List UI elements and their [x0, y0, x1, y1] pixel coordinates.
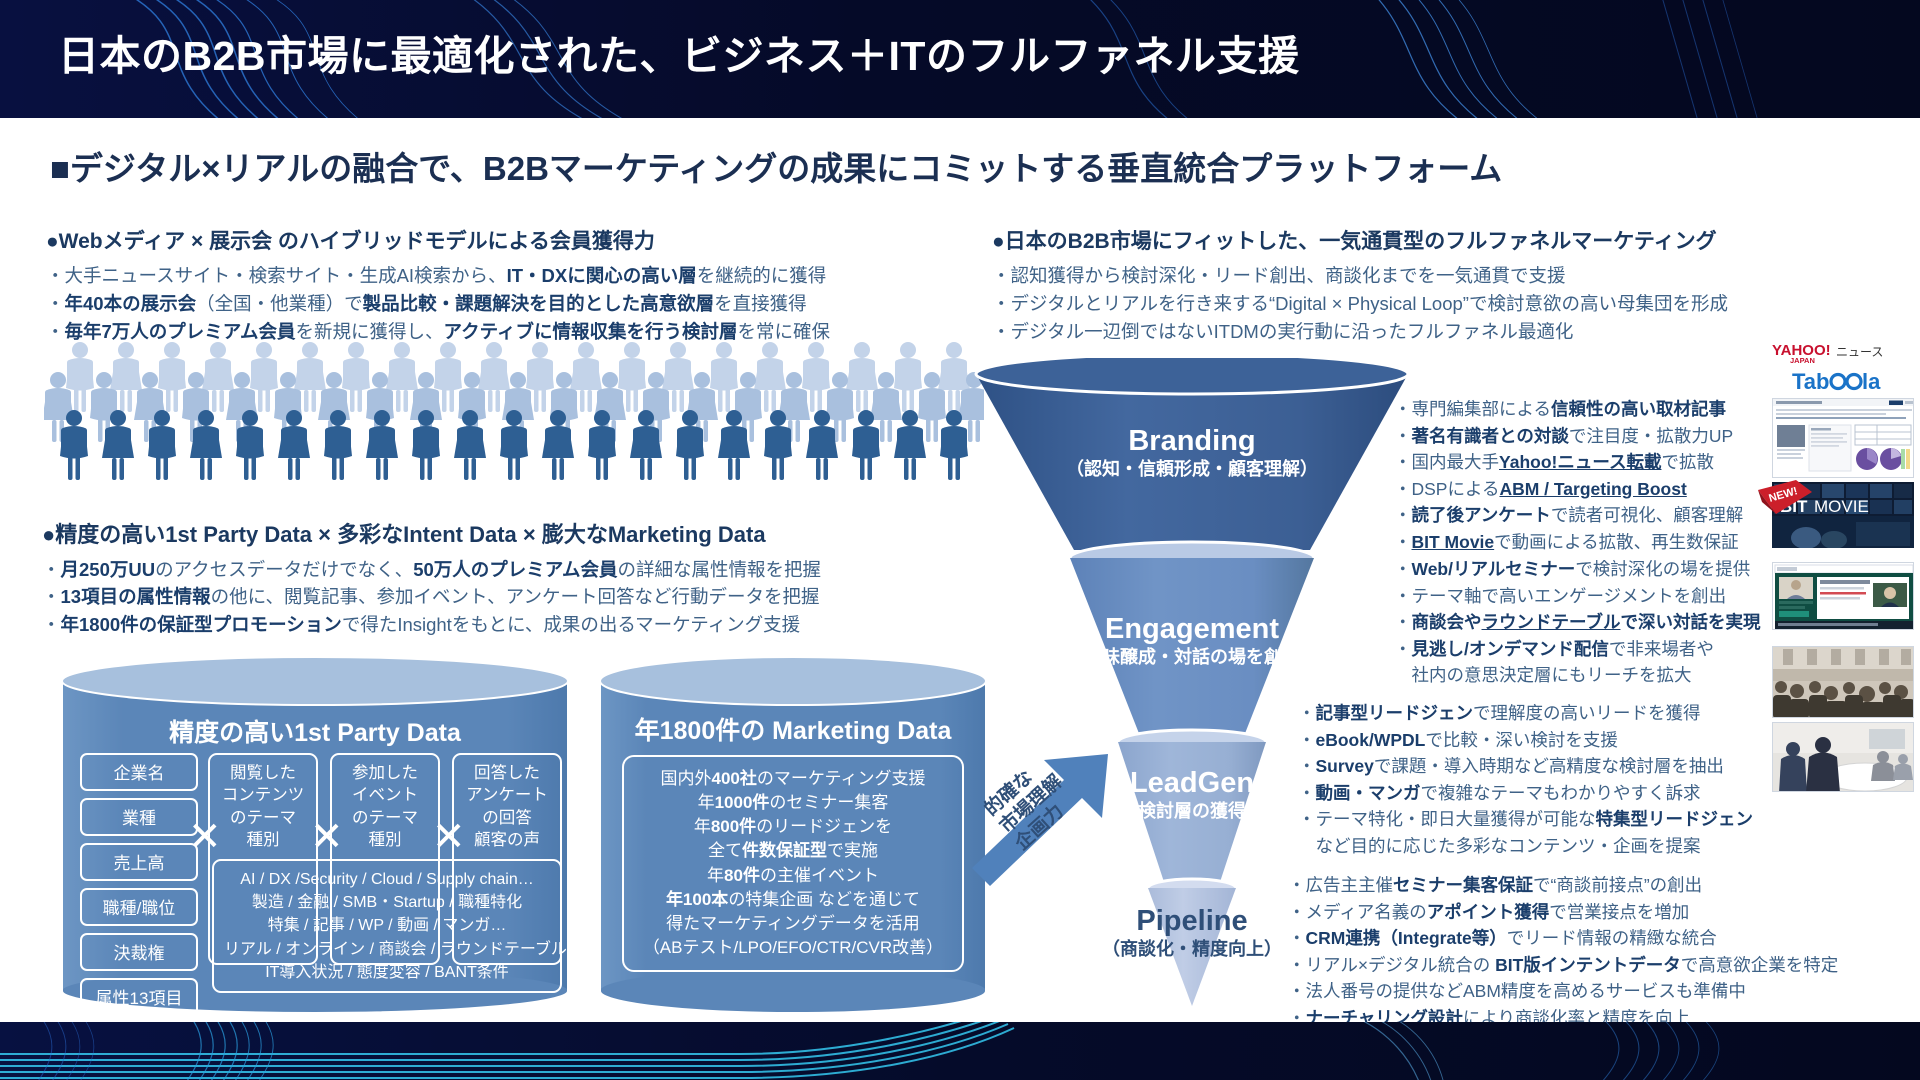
svg-text:la: la — [1862, 369, 1881, 394]
pipeline-benefits-list: ・広告主主催セミナー集客保証で“商談前接点”の創出 ・メディア名義のアポイント獲… — [1288, 872, 1838, 1032]
benefit-line: など目的に応じた多彩なコンテンツ・企画を提案 — [1298, 833, 1753, 860]
tag-line: リアル / オンライン / 商談会 / ラウンドテーブル — [224, 938, 550, 961]
benefit-line: ・専門編集部による信頼性の高い取材記事 — [1394, 396, 1743, 423]
footer-wave-decoration — [0, 1022, 1920, 1080]
cylinder1-tag-list: AI / DX /Security / Cloud / Supply chain… — [212, 859, 562, 993]
webinar-thumbnail-image — [1773, 563, 1914, 630]
leadgen-benefits-list: ・記事型リードジェンで理解度の高いリードを獲得 ・eBook/WPDLで比較・深… — [1298, 700, 1753, 860]
branding-benefits-list: ・専門編集部による信頼性の高い取材記事 ・著名有識者との対談で注目度・拡散力UP… — [1394, 396, 1743, 556]
expo-crowd-thumbnail-image — [1773, 647, 1914, 718]
benefit-line: ・Surveyで課題・導入時期など高精度な検討層を抽出 — [1298, 753, 1753, 780]
slide-root: 日本のB2B市場に最適化された、ビジネス＋ITのフルファネル支援 ■デジタル×リ… — [0, 0, 1920, 1080]
body-line: （ABテスト/LPO/EFO/CTR/CVR改善） — [636, 936, 950, 960]
body-line: 全て件数保証型で実施 — [636, 839, 950, 863]
multiply-icon: ✕ — [188, 817, 222, 857]
page-title: 日本のB2B市場に最適化された、ビジネス＋ITのフルファネル支援 — [58, 22, 1299, 82]
left-top-line: ・大手ニュースサイト・検索サイト・生成AI検索から、IT・DXに関心の高い層を継… — [46, 262, 830, 290]
cylinder-marketing-data: 年1800件の Marketing Data 国内外400社のマーケティング支援… — [598, 655, 988, 1015]
text-line: コンテンツ — [218, 784, 308, 806]
benefit-line: ・読了後アンケートで読者可視化、顧客理解 — [1394, 502, 1743, 529]
left-top-block: ●Webメディア × 展示会 のハイブリッドモデルによる会員獲得力 ・大手ニュー… — [46, 228, 830, 346]
body-line: 国内外400社のマーケティング支援 — [636, 767, 950, 791]
benefit-line: ・CRM連携（Integrate等）でリード情報の精緻な統合 — [1288, 925, 1838, 952]
thumbnail-roundtable — [1772, 722, 1914, 792]
text-line: のテーマ — [218, 807, 308, 829]
right-top-line: ・認知獲得から検討深化・リード創出、商談化までを一気通貫で支援 — [992, 262, 1728, 290]
left-top-line: ・年40本の展示会（全国・他業種）で製品比較・課題解決を目的とした高意欲層を直接… — [46, 290, 830, 318]
text-line: アンケート — [462, 784, 552, 806]
yahoo-logo-icon: YAHOO! JAPAN ニュース — [1772, 340, 1912, 364]
roundtable-thumbnail-image — [1773, 723, 1914, 792]
benefit-line: ・DSPによるABM / Targeting Boost — [1394, 476, 1743, 503]
tag-line: 製造 / 金融 / SMB・Startup / 職種特化 — [224, 891, 550, 914]
svg-text:JAPAN: JAPAN — [1790, 356, 1815, 364]
multiply-icon: ✕ — [432, 817, 466, 857]
yahoo-news-logo: YAHOO! JAPAN ニュース — [1772, 340, 1912, 364]
text-line: の回答 — [462, 807, 552, 829]
engagement-benefits-list: ・Web/リアルセミナーで検討深化の場を提供 ・テーマ軸で高いエンゲージメントを… — [1394, 556, 1760, 689]
text-line: 顧客の声 — [462, 829, 552, 851]
benefit-line: ・メディア名義のアポイント獲得で営業接点を増加 — [1288, 899, 1838, 926]
new-badge-icon: NEW! — [1756, 478, 1814, 516]
benefit-line: ・テーマ特化・即日大量獲得が可能な特集型リードジェン — [1298, 806, 1753, 833]
people-illustration — [44, 340, 984, 500]
benefit-line: ・記事型リードジェンで理解度の高いリードを獲得 — [1298, 700, 1753, 727]
section-headline: ■デジタル×リアルの融合で、B2Bマーケティングの成果にコミットする垂直統合プラ… — [50, 142, 1502, 190]
svg-text:Tab: Tab — [1792, 369, 1829, 394]
footer-band — [0, 1022, 1920, 1080]
insight-arrow: 的確な 市場理解 企画力 — [968, 736, 1148, 916]
tag-line: 特集 / 記事 / WP / 動画 / マンガ… — [224, 914, 550, 937]
text-line: 種別 — [218, 829, 308, 851]
benefit-line: ・eBook/WPDLで比較・深い検討を支援 — [1298, 727, 1753, 754]
people-icons-group — [44, 340, 984, 500]
cylinder-first-party-data: 精度の高い1st Party Data 企業名 業種 売上高 職種/職位 決裁権… — [60, 655, 570, 1015]
benefit-line: ・見逃し/オンデマンド配信で非来場者や — [1394, 636, 1760, 663]
attribute-chip: 業種 — [80, 798, 198, 836]
benefit-line: ・Web/リアルセミナーで検討深化の場を提供 — [1394, 556, 1760, 583]
body-line: 年800件のリードジェンを — [636, 815, 950, 839]
attribute-chip: 企業名 — [80, 753, 198, 791]
attribute-chip: 属性13項目 — [80, 978, 198, 1016]
cylinder1-title: 精度の高い1st Party Data — [60, 713, 570, 749]
right-top-line: ・デジタルとリアルを行き来する“Digital × Physical Loop”… — [992, 290, 1728, 318]
new-ribbon-icon: NEW! — [1756, 478, 1814, 516]
benefit-line: 社内の意思決定層にもリーチを拡大 — [1394, 662, 1760, 689]
left-mid-line: ・月250万UUのアクセスデータだけでなく、50万人のプレミアム会員の詳細な属性… — [42, 556, 821, 584]
body-line: 年80件の主催イベント — [636, 864, 950, 888]
left-mid-line: ・13項目の属性情報の他に、閲覧記事、参加イベント、アンケート回答など行動データ… — [42, 583, 821, 611]
cylinder1-attribute-list: 企業名 業種 売上高 職種/職位 決裁権 属性13項目 — [80, 753, 198, 1016]
text-line: 参加した — [340, 762, 430, 784]
left-mid-line: ・年1800件の保証型プロモーションで得たInsightをもとに、成果の出るマー… — [42, 611, 821, 639]
benefit-line: ・動画・マンガで複雑なテーマもわかりやすく訴求 — [1298, 780, 1753, 807]
body-line: 年1000件のセミナー集客 — [636, 791, 950, 815]
text-line: 種別 — [340, 829, 430, 851]
left-mid-heading: ●精度の高い1st Party Data × 多彩なIntent Data × … — [42, 520, 821, 550]
text-line: のテーマ — [340, 807, 430, 829]
thumbnail-webinar-screen — [1772, 562, 1914, 630]
benefit-line: ・BIT Movieで動画による拡散、再生数保証 — [1394, 529, 1743, 556]
taboola-logo-icon: Tab la — [1792, 366, 1902, 396]
text-line: イベント — [340, 784, 430, 806]
benefit-line: ・広告主主催セミナー集客保証で“商談前接点”の創出 — [1288, 872, 1838, 899]
header-band: 日本のB2B市場に最適化された、ビジネス＋ITのフルファネル支援 — [0, 0, 1920, 118]
svg-text:MOVIE: MOVIE — [1814, 497, 1869, 516]
benefit-line: ・テーマ軸で高いエンゲージメントを創出 — [1394, 583, 1760, 610]
benefit-line: ・著名有識者との対談で注目度・拡散力UP — [1394, 423, 1743, 450]
text-line: 回答した — [462, 762, 552, 784]
thumbnail-article-page — [1772, 398, 1914, 478]
cylinder2-title: 年1800件の Marketing Data — [598, 711, 988, 747]
taboola-logo: Tab la — [1792, 366, 1902, 401]
left-mid-block: ●精度の高い1st Party Data × 多彩なIntent Data × … — [42, 520, 821, 639]
benefit-line: ・商談会やラウンドテーブルで深い対話を実現 — [1394, 609, 1760, 636]
svg-text:ニュース: ニュース — [1836, 345, 1883, 359]
text-line: 閲覧した — [218, 762, 308, 784]
left-top-heading: ●Webメディア × 展示会 のハイブリッドモデルによる会員獲得力 — [46, 228, 830, 256]
thumbnail-expo-crowd — [1772, 646, 1914, 718]
right-top-heading: ●日本のB2B市場にフィットした、一気通貫型のフルファネルマーケティング — [992, 228, 1728, 256]
benefit-line: ・法人番号の提供などABM精度を高めるサービスも準備中 — [1288, 978, 1838, 1005]
body-line: 得たマーケティングデータを活用 — [636, 912, 950, 936]
attribute-chip: 決裁権 — [80, 933, 198, 971]
cylinder2-body-box: 国内外400社のマーケティング支援 年1000件のセミナー集客 年800件のリー… — [622, 755, 964, 972]
benefit-line: ・国内最大手Yahoo!ニュース転載で拡散 — [1394, 449, 1743, 476]
attribute-chip: 売上高 — [80, 843, 198, 881]
article-thumbnail-image — [1773, 399, 1914, 478]
multiply-icon: ✕ — [310, 817, 344, 857]
benefit-line: ・リアル×デジタル統合の BIT版インテントデータで高意欲企業を特定 — [1288, 952, 1838, 979]
right-top-block: ●日本のB2B市場にフィットした、一気通貫型のフルファネルマーケティング ・認知… — [992, 228, 1728, 346]
attribute-chip: 職種/職位 — [80, 888, 198, 926]
right-top-line: ・デジタル一辺倒ではないITDMの実行動に沿ったフルファネル最適化 — [992, 318, 1728, 346]
tag-line: IT導入状況 / 態度変容 / BANT条件 — [224, 961, 550, 984]
body-line: 年100本の特集企画 などを通じて — [636, 888, 950, 912]
tag-line: AI / DX /Security / Cloud / Supply chain… — [224, 868, 550, 891]
